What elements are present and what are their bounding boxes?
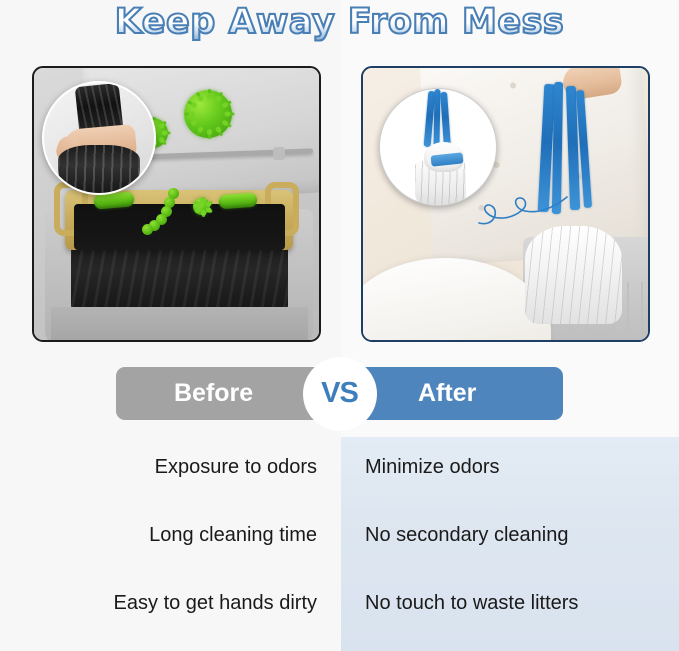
page-title-text: Keep Away From Mess [115, 2, 565, 42]
after-photo-scene [363, 68, 648, 340]
pointer-curl-icon [477, 193, 569, 227]
drawstring [433, 89, 440, 147]
after-photo [361, 66, 650, 342]
drawstring [440, 92, 451, 147]
germ-virus-large-icon [184, 90, 232, 138]
vs-badge: VS [303, 357, 377, 431]
before-photo-scene [34, 68, 319, 340]
before-pill-label: Before [174, 379, 253, 408]
infographic-root: Keep Away From Mess [0, 0, 679, 651]
list-item: Exposure to odors [155, 455, 317, 479]
list-item: Easy to get hands dirty [114, 591, 317, 615]
vs-badge-label: VS [321, 377, 358, 410]
before-photo-inset [42, 81, 156, 195]
after-list: Minimize odors No secondary cleaning No … [341, 455, 679, 615]
list-item: No secondary cleaning [365, 523, 568, 547]
list-item: No touch to waste litters [365, 591, 578, 615]
black-liner-skirt [71, 242, 288, 313]
lid-knob [273, 147, 285, 160]
comparison-lists: Exposure to odors Long cleaning time Eas… [0, 455, 679, 615]
floor-surface [51, 307, 308, 340]
after-pill-label: After [418, 379, 476, 408]
germ-virus-small-icon [193, 198, 210, 215]
list-item: Long cleaning time [149, 523, 317, 547]
black-bag-body [58, 145, 140, 195]
before-list: Exposure to odors Long cleaning time Eas… [0, 455, 341, 615]
before-photo [32, 66, 321, 342]
page-title: Keep Away From Mess [0, 2, 679, 44]
before-after-bar: Before After VS [116, 367, 563, 420]
white-drawstring-bag [525, 226, 622, 324]
germ-bacteria-rod-icon [219, 193, 258, 210]
list-item: Minimize odors [365, 455, 499, 479]
after-photo-inset [379, 88, 497, 206]
germ-bacteria-chain-icon [142, 188, 184, 236]
